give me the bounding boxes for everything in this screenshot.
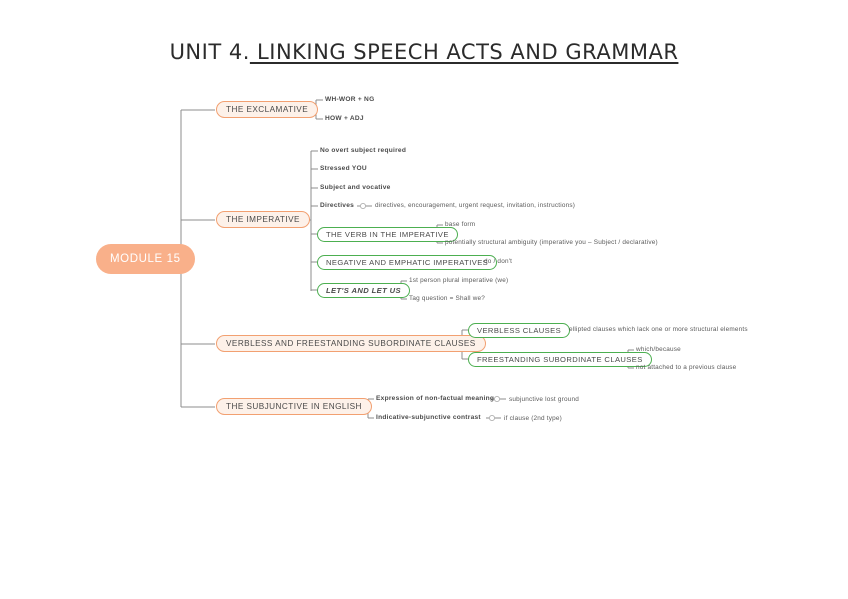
leaf-stressed-you[interactable]: Stressed YOU	[320, 165, 367, 172]
branch-label-verbless-freestanding: VERBLESS AND FREESTANDING SUBORDINATE CL…	[226, 339, 476, 348]
green-label-freestanding-subordinate-clauses: FREESTANDING SUBORDINATE CLAUSES	[477, 355, 643, 364]
leaf-non-factual-meaning[interactable]: Expression of non-factual meaning	[376, 395, 494, 402]
detail-if-clause-2nd-type[interactable]: if clause (2nd type)	[504, 415, 562, 422]
detail-ellipted-clauses[interactable]: ellipted clauses which lack one or more …	[569, 326, 748, 333]
green-node-negative-emphatic-imperatives[interactable]: NEGATIVE AND EMPHATIC IMPERATIVES	[317, 255, 497, 270]
green-node-lets-and-let-us[interactable]: LET'S AND LET US	[317, 283, 410, 298]
collapse-dot-non-factual	[494, 396, 499, 401]
leaf-no-overt-subject[interactable]: No overt subject required	[320, 147, 406, 154]
leaf-which-because[interactable]: which/because	[636, 346, 681, 353]
leaf-first-person-plural-imperative[interactable]: 1st person plural imperative (we)	[409, 277, 508, 284]
leaf-wh-word-ng[interactable]: WH-WOR + NG	[325, 96, 374, 103]
leaf-not-attached-previous-clause[interactable]: not attached to a previous clause	[636, 364, 736, 371]
root-node-label: MODULE 15	[110, 253, 181, 265]
green-node-verbless-clauses[interactable]: VERBLESS CLAUSES	[468, 323, 570, 338]
title-lead: UNIT 4.	[170, 40, 250, 64]
green-label-lets-and-let-us: LET'S AND LET US	[326, 286, 401, 295]
detail-subjunctive-lost-ground[interactable]: subjunctive lost ground	[509, 396, 579, 403]
leaf-directives[interactable]: Directives	[320, 202, 354, 209]
leaf-how-adj[interactable]: HOW + ADJ	[325, 115, 364, 122]
leaf-subject-and-vocative[interactable]: Subject and vocative	[320, 184, 391, 191]
root-node-module-15[interactable]: MODULE 15	[96, 244, 195, 274]
branch-node-imperative[interactable]: THE IMPERATIVE	[216, 211, 310, 228]
green-node-verb-in-imperative[interactable]: THE VERB IN THE IMPERATIVE	[317, 227, 458, 242]
leaf-structural-ambiguity[interactable]: potentially structural ambiguity (impera…	[445, 239, 658, 246]
branch-label-subjunctive: THE SUBJUNCTIVE IN ENGLISH	[226, 402, 362, 411]
leaf-base-form[interactable]: base form	[445, 221, 475, 228]
collapse-dot-indicative-contrast	[489, 415, 494, 420]
branch-node-verbless-freestanding[interactable]: VERBLESS AND FREESTANDING SUBORDINATE CL…	[216, 335, 486, 352]
green-label-negative-emphatic-imperatives: NEGATIVE AND EMPHATIC IMPERATIVES	[326, 258, 488, 267]
leaf-indicative-subjunctive-contrast[interactable]: Indicative-subjunctive contrast	[376, 414, 481, 421]
branch-label-imperative: THE IMPERATIVE	[226, 215, 300, 224]
leaf-tag-question[interactable]: Tag question = Shall we?	[409, 295, 485, 302]
collapse-dot-directives	[360, 203, 365, 208]
green-node-freestanding-subordinate-clauses[interactable]: FREESTANDING SUBORDINATE CLAUSES	[468, 352, 652, 367]
title-underlined: LINKING SPEECH ACTS AND GRAMMAR	[250, 40, 679, 64]
green-label-verb-in-imperative: THE VERB IN THE IMPERATIVE	[326, 230, 449, 239]
mindmap-canvas: UNIT 4. LINKING SPEECH ACTS AND GRAMMAR	[0, 0, 848, 599]
branch-label-exclamative: THE EXCLAMATIVE	[226, 105, 308, 114]
page-title: UNIT 4. LINKING SPEECH ACTS AND GRAMMAR	[0, 40, 848, 64]
detail-directives-list[interactable]: directives, encouragement, urgent reques…	[375, 202, 575, 209]
branch-node-exclamative[interactable]: THE EXCLAMATIVE	[216, 101, 318, 118]
detail-do-dont[interactable]: do / don't	[484, 258, 512, 265]
branch-node-subjunctive[interactable]: THE SUBJUNCTIVE IN ENGLISH	[216, 398, 372, 415]
green-label-verbless-clauses: VERBLESS CLAUSES	[477, 326, 561, 335]
